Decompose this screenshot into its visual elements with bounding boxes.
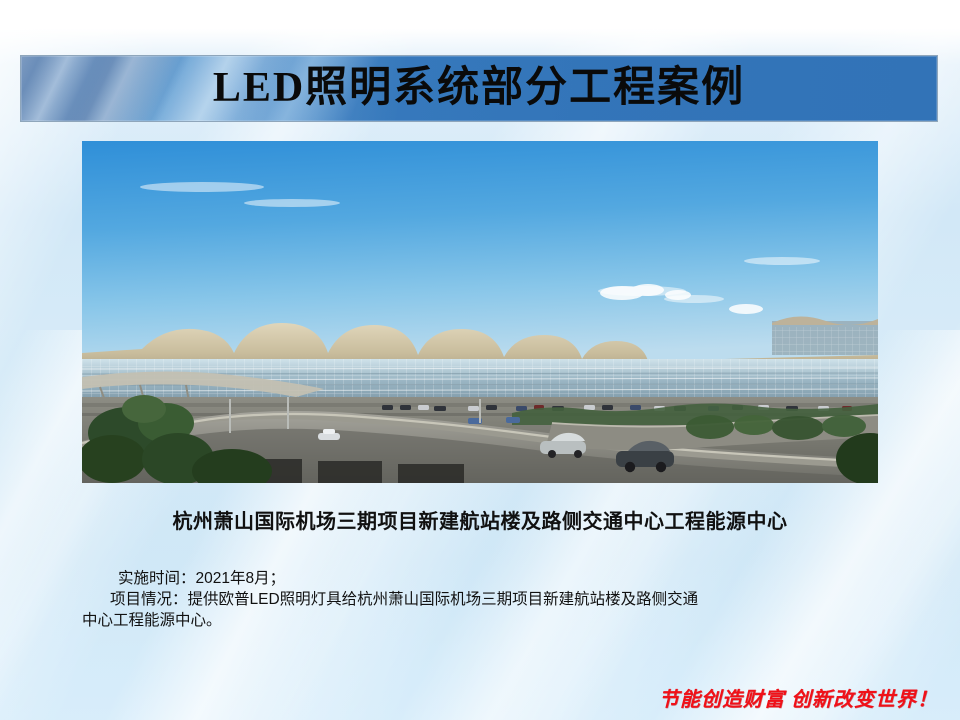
photo-caption: 杭州萧山国际机场三期项目新建航站楼及路侧交通中心工程能源中心 [0,505,960,534]
detail-line-implementation-time: 实施时间：2021年8月； [0,568,960,589]
project-details: 实施时间：2021年8月； 项目情况：提供欧普LED照明灯具给杭州萧山国际机场三… [0,568,960,631]
project-photo-illustration [82,141,878,483]
slide-canvas: LED照明系统部分工程案例 [0,0,960,720]
page-title: LED照明系统部分工程案例 [213,67,745,109]
detail-line-project-description-part1: 项目情况：提供欧普LED照明灯具给杭州萧山国际机场三期项目新建航站楼及路侧交通 [0,589,960,610]
footer-slogan: 节能创造财富 创新改变世界！ [659,683,938,712]
title-banner: LED照明系统部分工程案例 [20,55,938,122]
project-photo [82,141,878,483]
detail-line-project-description-part2: 中心工程能源中心。 [0,610,960,631]
